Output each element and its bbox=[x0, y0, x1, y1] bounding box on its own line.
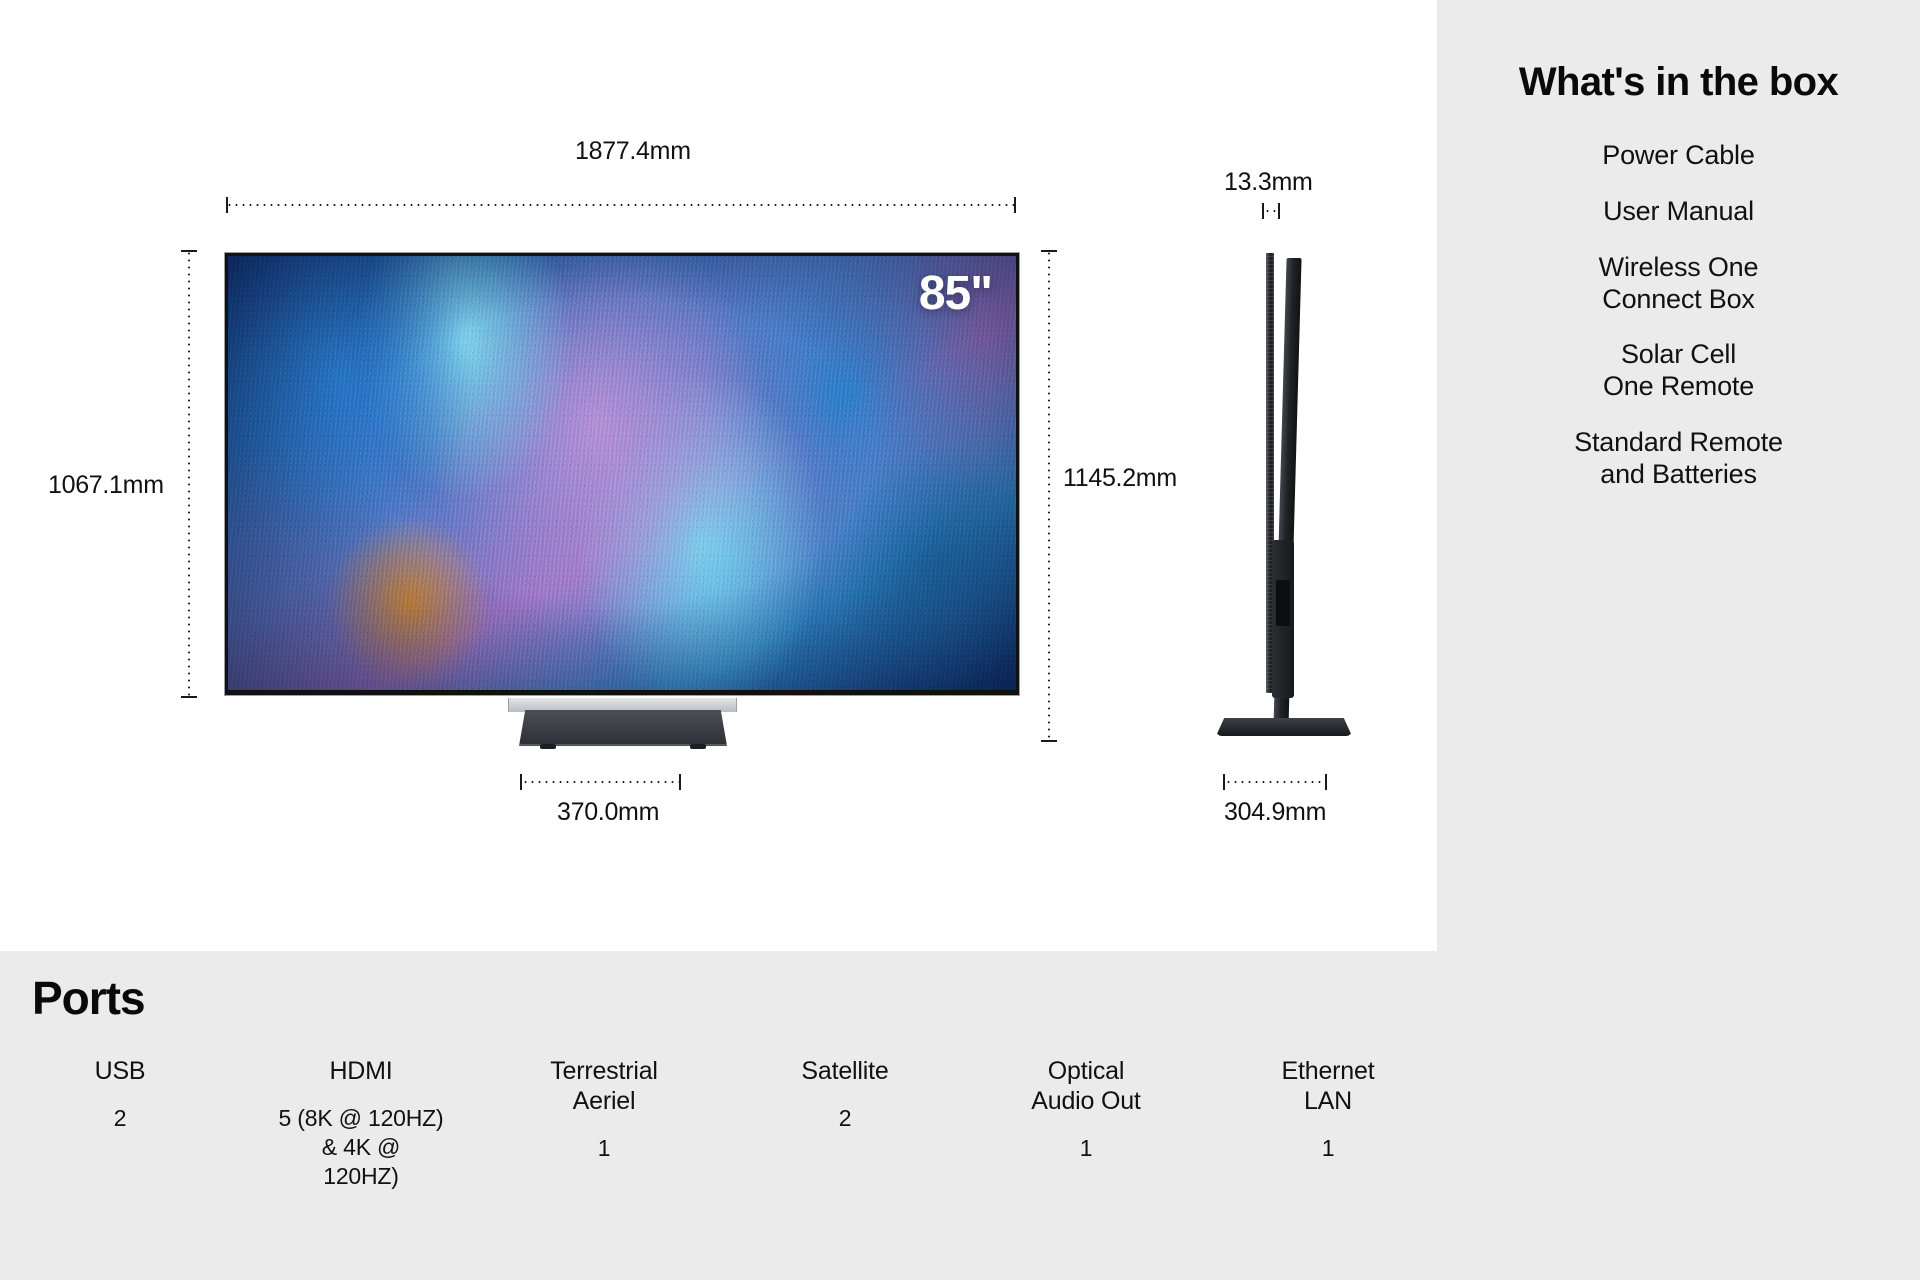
port-column-terrestrial-aeriel: TerrestrialAeriel 1 bbox=[489, 1056, 719, 1163]
front-depth-cap-right bbox=[679, 774, 681, 790]
tv-side-stand-base bbox=[1216, 718, 1352, 736]
dimension-cap-bottom-left bbox=[181, 696, 197, 698]
front-depth-cap-left bbox=[520, 774, 522, 790]
port-name: USB bbox=[5, 1056, 235, 1086]
dimension-rule-total-height bbox=[1048, 250, 1050, 742]
port-column-usb: USB 2 bbox=[5, 1056, 235, 1133]
list-item: User Manual bbox=[1437, 196, 1920, 228]
dimension-rule-stand-depth bbox=[1225, 781, 1325, 783]
tv-stand-foot-right bbox=[690, 744, 706, 749]
port-name: HDMI bbox=[246, 1056, 476, 1086]
dimension-rule-front-width bbox=[226, 204, 1016, 206]
list-item: Power Cable bbox=[1437, 140, 1920, 172]
thickness-cap-right bbox=[1278, 203, 1280, 219]
product-spec-sheet: 1877.4mm 1067.1mm 1145.2mm 13.3mm 85" bbox=[0, 0, 1920, 1280]
list-item: Standard Remoteand Batteries bbox=[1437, 427, 1920, 491]
tv-screen-wallpaper: 85" bbox=[228, 256, 1016, 690]
list-item: Solar CellOne Remote bbox=[1437, 339, 1920, 403]
ports-row: USB 2 HDMI 5 (8K @ 120HZ)& 4K @120HZ) Te… bbox=[0, 1056, 1437, 1256]
port-value: 1 bbox=[489, 1134, 719, 1163]
port-value: 5 (8K @ 120HZ)& 4K @120HZ) bbox=[246, 1104, 476, 1190]
dimension-label-front-height: 1067.1mm bbox=[48, 471, 164, 500]
dimension-cap-bottom-right bbox=[1041, 740, 1057, 742]
ports-title: Ports bbox=[32, 971, 145, 1025]
port-name: TerrestrialAeriel bbox=[489, 1056, 719, 1116]
list-item: Wireless OneConnect Box bbox=[1437, 252, 1920, 316]
port-column-ethernet-lan: EthernetLAN 1 bbox=[1213, 1056, 1443, 1163]
port-value: 1 bbox=[971, 1134, 1201, 1163]
port-value: 2 bbox=[730, 1104, 960, 1133]
dimension-label-front-width: 1877.4mm bbox=[575, 137, 691, 166]
port-name: OpticalAudio Out bbox=[971, 1056, 1201, 1116]
dimension-cap-right bbox=[1014, 197, 1016, 213]
tv-stand-neck bbox=[508, 698, 737, 712]
tv-stand-base bbox=[519, 710, 727, 746]
whats-in-the-box-title: What's in the box bbox=[1437, 60, 1920, 105]
port-column-satellite: Satellite 2 bbox=[730, 1056, 960, 1133]
port-name: EthernetLAN bbox=[1213, 1056, 1443, 1116]
dimension-label-stand-depth: 304.9mm bbox=[1224, 798, 1326, 827]
dimensions-panel: 1877.4mm 1067.1mm 1145.2mm 13.3mm 85" bbox=[0, 0, 1437, 951]
whats-in-the-box-list: Power Cable User Manual Wireless OneConn… bbox=[1437, 140, 1920, 515]
dimension-rule-front-height bbox=[188, 250, 190, 698]
dimension-label-front-depth: 370.0mm bbox=[557, 798, 659, 827]
port-value: 1 bbox=[1213, 1134, 1443, 1163]
port-name: Satellite bbox=[730, 1056, 960, 1086]
stand-depth-cap-left bbox=[1223, 774, 1225, 790]
stand-depth-cap-right bbox=[1325, 774, 1327, 790]
thickness-cap-left bbox=[1262, 203, 1264, 219]
port-column-optical-audio-out: OpticalAudio Out 1 bbox=[971, 1056, 1201, 1163]
ports-panel: Ports USB 2 HDMI 5 (8K @ 120HZ)& 4K @120… bbox=[0, 951, 1437, 1280]
tv-side-mount-bracket bbox=[1272, 540, 1294, 698]
dimension-label-panel-thickness: 13.3mm bbox=[1224, 168, 1313, 197]
dimension-cap-top-left bbox=[181, 250, 197, 252]
tv-stand-foot-left bbox=[540, 744, 556, 749]
port-value: 2 bbox=[5, 1104, 235, 1133]
dimension-label-total-height: 1145.2mm bbox=[1063, 464, 1177, 493]
dimension-cap-left bbox=[226, 197, 228, 213]
dimension-rule-front-depth bbox=[522, 781, 679, 783]
dimension-rule-panel-thickness bbox=[1264, 210, 1278, 212]
wallpaper-vignette bbox=[228, 256, 1016, 690]
dimension-cap-top-right bbox=[1041, 250, 1057, 252]
port-column-hdmi: HDMI 5 (8K @ 120HZ)& 4K @120HZ) bbox=[246, 1056, 476, 1190]
tv-front-view: 85" bbox=[225, 253, 1019, 695]
screen-size-badge: 85" bbox=[919, 266, 992, 321]
whats-in-the-box-panel: What's in the box Power Cable User Manua… bbox=[1437, 0, 1920, 1280]
